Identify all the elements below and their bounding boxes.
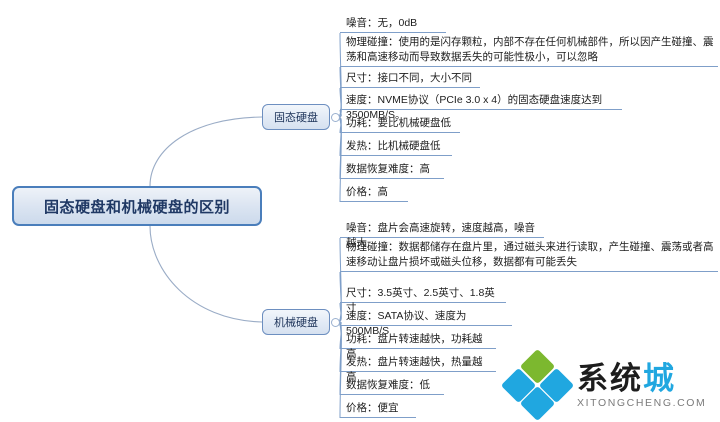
branch-node-ssd[interactable]: 固态硬盘 <box>262 104 330 130</box>
root-node-label: 固态硬盘和机械硬盘的区别 <box>44 196 230 217</box>
leaf-node[interactable]: 发热：比机械硬盘低 <box>340 137 452 156</box>
leaf-node[interactable]: 物理碰撞：使用的是闪存颗粒，内部不存在任何机械部件，所以因产生碰撞、震荡和高速移… <box>340 33 718 67</box>
leaf-node-label: 数据恢复难度：低 <box>346 378 440 393</box>
logo-brand-dark: 系统 <box>577 361 643 396</box>
wire-root-to-ssd <box>150 117 262 186</box>
leaf-node[interactable]: 发热：盘片转速越快，热量越高 <box>340 353 496 372</box>
leaf-node[interactable]: 尺寸：接口不同，大小不同 <box>340 69 480 88</box>
logo-domain: XITONGCHENG.COM <box>577 397 706 409</box>
logo-diamond-icon <box>505 354 569 416</box>
leaf-node-label: 发热：比机械硬盘低 <box>346 139 448 154</box>
leaf-node[interactable]: 功耗：要比机械硬盘低 <box>340 114 460 133</box>
leaf-node-label: 价格：高 <box>346 185 404 200</box>
leaf-node[interactable]: 物理碰撞：数据都储存在盘片里，通过磁头来进行读取，产生碰撞、震荡或者高速移动让盘… <box>340 238 718 272</box>
leaf-node-label: 物理碰撞：使用的是闪存颗粒，内部不存在任何机械部件，所以因产生碰撞、震荡和高速移… <box>346 35 714 65</box>
leaf-node[interactable]: 噪音：无，0dB <box>340 14 446 33</box>
leaf-node[interactable]: 数据恢复难度：低 <box>340 376 444 395</box>
leaf-node[interactable]: 尺寸：3.5英寸、2.5英寸、1.8英寸 <box>340 284 506 303</box>
leaf-node[interactable]: 速度：SATA协议、速度为500MB/S <box>340 307 512 326</box>
leaf-node[interactable]: 价格：便宜 <box>340 399 416 418</box>
leaf-node[interactable]: 价格：高 <box>340 183 408 202</box>
leaf-node-label: 数据恢复难度：高 <box>346 162 440 177</box>
logo-brand-name: 系统城 <box>577 362 706 395</box>
leaf-node-label: 功耗：要比机械硬盘低 <box>346 116 456 131</box>
leaf-node[interactable]: 噪音：盘片会高速旋转，速度越高，噪音越大 <box>340 219 544 238</box>
leaf-node-label: 噪音：无，0dB <box>346 16 442 31</box>
branch-node-hdd[interactable]: 机械硬盘 <box>262 309 330 335</box>
hub-dot-ssd[interactable] <box>331 113 340 122</box>
branch-node-hdd-label: 机械硬盘 <box>274 314 318 330</box>
leaf-node[interactable]: 速度：NVME协议（PCIe 3.0 x 4）的固态硬盘速度达到3500MB/S… <box>340 91 622 110</box>
leaf-node[interactable]: 数据恢复难度：高 <box>340 160 444 179</box>
branch-node-ssd-label: 固态硬盘 <box>274 109 318 125</box>
leaf-node[interactable]: 功耗：盘片转速越快，功耗越高 <box>340 330 496 349</box>
mindmap-canvas: 固态硬盘和机械硬盘的区别 固态硬盘 机械硬盘 噪音：无，0dB物理碰撞：使用的是… <box>0 0 720 422</box>
leaf-node-label: 尺寸：接口不同，大小不同 <box>346 71 476 86</box>
root-node[interactable]: 固态硬盘和机械硬盘的区别 <box>12 186 262 226</box>
logo-brand-accent: 城 <box>643 361 676 396</box>
hub-dot-hdd[interactable] <box>331 318 340 327</box>
leaf-node-label: 价格：便宜 <box>346 401 412 416</box>
logo-text: 系统城 XITONGCHENG.COM <box>577 362 706 409</box>
leaf-node-label: 物理碰撞：数据都储存在盘片里，通过磁头来进行读取，产生碰撞、震荡或者高速移动让盘… <box>346 240 714 270</box>
watermark-logo: 系统城 XITONGCHENG.COM <box>505 352 717 418</box>
wire-root-to-hdd <box>150 226 262 322</box>
